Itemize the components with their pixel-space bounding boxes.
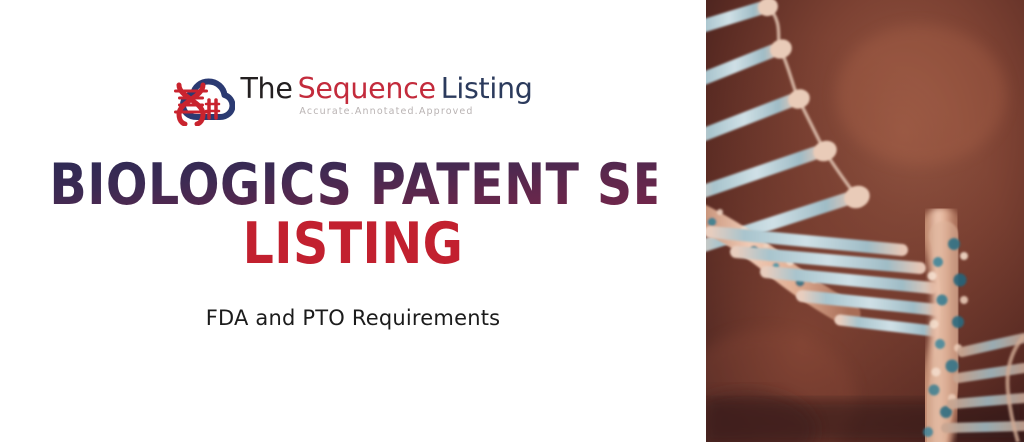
wordmark-part-sequence: Sequence bbox=[298, 72, 436, 105]
wordmark-part-the: The bbox=[240, 72, 292, 105]
headline-line-secondary: LISTING bbox=[49, 217, 656, 272]
brand-tagline: Accurate.Annotated.Approved bbox=[299, 106, 473, 117]
hero-image-panel bbox=[706, 0, 1024, 442]
dna-cloud-logo-icon bbox=[173, 74, 235, 126]
wordmark-part-listing: Listing bbox=[441, 72, 533, 105]
brand-wordmark-group: TheSequenceListing Accurate.Annotated.Ap… bbox=[240, 72, 532, 117]
headline-group: BIOLOGICS PATENT SEQUENCE LISTING bbox=[0, 158, 706, 273]
dna-double-helix-photo bbox=[706, 0, 1024, 442]
promotional-banner: TheSequenceListing Accurate.Annotated.Ap… bbox=[0, 0, 1024, 442]
brand-logo[interactable]: TheSequenceListing Accurate.Annotated.Ap… bbox=[173, 72, 532, 134]
content-panel: TheSequenceListing Accurate.Annotated.Ap… bbox=[0, 0, 706, 442]
brand-wordmark: TheSequenceListing bbox=[240, 74, 532, 103]
subtitle: FDA and PTO Requirements bbox=[206, 306, 501, 330]
headline-line-primary: BIOLOGICS PATENT SEQUENCE bbox=[49, 158, 656, 213]
